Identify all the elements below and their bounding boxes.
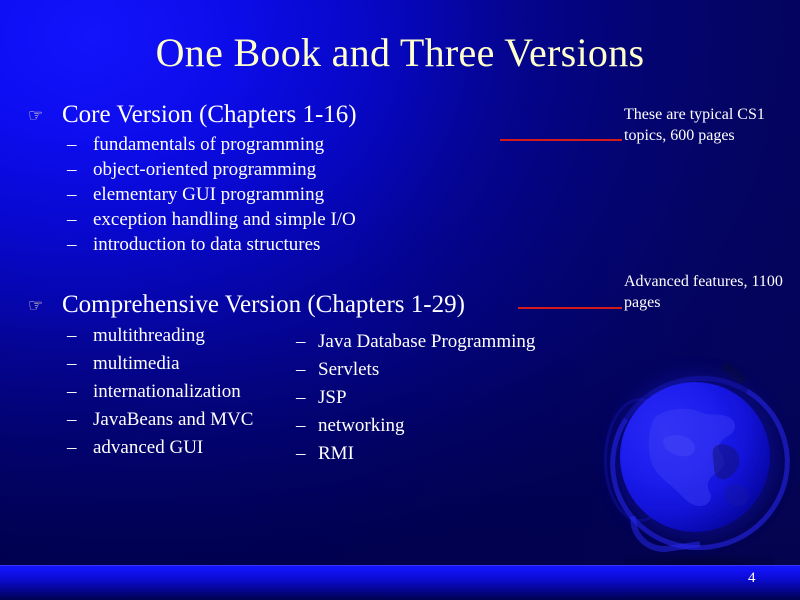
list-item: – Servlets [296,356,596,384]
dash-icon: – [67,322,77,350]
callout-connector-line-comprehensive [518,307,622,309]
pointing-hand-icon: ☞ [28,293,43,318]
list-item: – JSP [296,384,596,412]
list-item-label: exception handling and simple I/O [93,209,356,230]
callout-core: These are typical CS1 topics, 600 pages [624,104,792,146]
list-item-label: introduction to data structures [93,234,320,255]
bullet-level1-core: ☞ Core Version (Chapters 1-16) [26,100,496,130]
list-item: – elementary GUI programming [26,182,496,207]
bullet-level1-core-label: Core Version (Chapters 1-16) [62,101,357,128]
footer-band [0,565,800,600]
bullet-level1-comprehensive: ☞ Comprehensive Version (Chapters 1-29) [26,290,496,320]
dash-icon: – [67,434,77,462]
list-item: – exception handling and simple I/O [26,207,496,232]
list-item-label: JavaBeans and MVC [93,409,253,430]
dash-icon: – [296,384,306,412]
dash-icon: – [296,440,306,468]
dash-icon: – [67,157,77,182]
dash-icon: – [296,328,306,356]
section-spacer [26,257,496,290]
list-item-label: internationalization [93,381,241,402]
list-item-label: RMI [318,443,354,464]
list-item: – RMI [296,440,596,468]
list-item: – Java Database Programming [296,328,596,356]
page-number: 4 [748,569,756,587]
sublist-core: – fundamentals of programming – object-o… [26,132,496,257]
dash-icon: – [67,182,77,207]
dash-icon: – [67,132,77,157]
list-item-label: multimedia [93,353,180,374]
list-item-label: advanced GUI [93,437,203,458]
list-item: – networking [296,412,596,440]
dash-icon: – [296,356,306,384]
presentation-slide: One Book and Three Versions ☞ Core Versi… [0,0,800,600]
list-item-label: JSP [318,387,347,408]
dash-icon: – [67,406,77,434]
dash-icon: – [296,412,306,440]
list-item-label: Java Database Programming [318,331,535,352]
callout-connector-line-core [500,139,622,141]
dash-icon: – [67,350,77,378]
section-core: ☞ Core Version (Chapters 1-16) – fundame… [26,100,496,257]
list-item-label: elementary GUI programming [93,184,324,205]
list-item: – introduction to data structures [26,232,496,257]
globe-icon [602,372,792,572]
list-item-label: multithreading [93,325,205,346]
dash-icon: – [67,207,77,232]
callout-comprehensive: Advanced features, 1100 pages [624,271,792,313]
list-item: – fundamentals of programming [26,132,496,157]
list-item-label: networking [318,415,405,436]
pointing-hand-icon: ☞ [28,103,43,128]
list-item-label: fundamentals of programming [93,134,324,155]
footer-band-hairline [0,565,800,566]
page-title: One Book and Three Versions [0,30,800,76]
dash-icon: – [67,232,77,257]
list-item-label: Servlets [318,359,379,380]
list-item-label: object-oriented programming [93,159,316,180]
dash-icon: – [67,378,77,406]
list-item: – object-oriented programming [26,157,496,182]
sublist-comprehensive-col2: – Java Database Programming – Servlets –… [296,328,596,468]
bullet-level1-comprehensive-label: Comprehensive Version (Chapters 1-29) [62,291,465,318]
